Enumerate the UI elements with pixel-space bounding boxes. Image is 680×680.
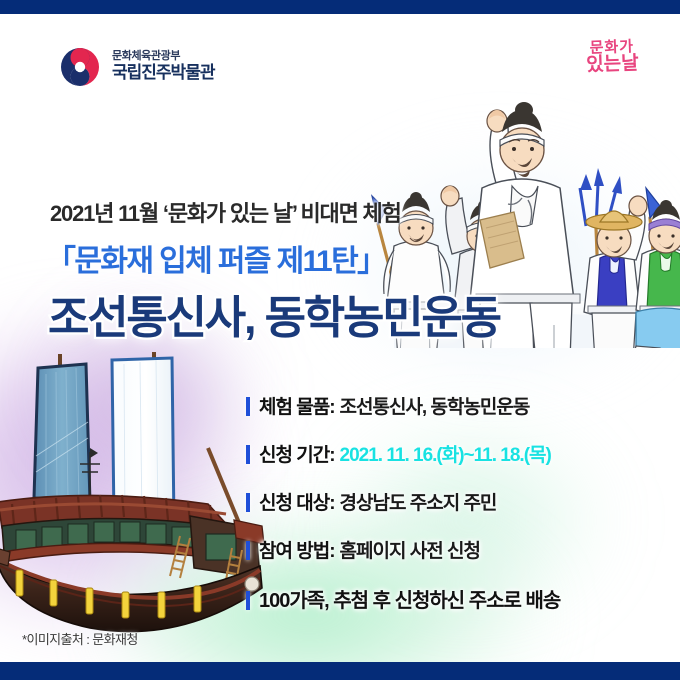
kicker-text: 2021년 11월 ‘문화가 있는 날’ 비대면 체험 [50, 196, 401, 228]
list-item: 체험 물품: 조선통신사, 동학농민운동 [246, 392, 666, 419]
detail-value: 홈페이지 사전 신청 [340, 536, 480, 563]
detail-label: 신청 대상: [259, 488, 335, 515]
government-logo: 문화체육관광부 국립진주박물관 [58, 45, 214, 89]
detail-value-highlighted: 2021. 11. 16.(화)~11. 18.(목) [340, 440, 551, 467]
bullet-marker-icon [246, 541, 250, 560]
taegeuk-emblem [58, 45, 102, 89]
museum-name: 국립진주박물관 [112, 63, 214, 83]
detail-value: 조선통신사, 동학농민운동 [340, 392, 530, 419]
ministry-name: 문화체육관광부 [112, 50, 214, 63]
bullet-marker-icon [246, 591, 250, 610]
poster: 문화체육관광부 국립진주박물관 문화가 있는날 2021년 11월 ‘문화가 있… [0, 0, 680, 680]
culture-day-logo-line2: 있는날 [585, 54, 638, 75]
culture-day-logo: 문화가 있는날 [585, 39, 639, 75]
list-item: 참여 방법: 홈페이지 사전 신청 [246, 536, 666, 563]
bullet-marker-icon [246, 445, 250, 464]
bullet-marker-icon [246, 493, 250, 512]
list-item: 신청 기간: 2021. 11. 16.(화)~11. 18.(목) [246, 440, 666, 467]
page-title: 조선통신사, 동학농민운동 [48, 281, 500, 346]
list-item: 100가족, 추첨 후 신청하신 주소로 배송 [246, 584, 666, 613]
detail-value: 경상남도 주소지 주민 [340, 488, 497, 515]
subtitle-text: 「문화재 입체 퍼즐 제11탄」 [46, 236, 386, 280]
detail-label: 신청 기간: [259, 440, 335, 467]
detail-label: 참여 방법: [259, 536, 335, 563]
bottom-border-bar [0, 662, 680, 680]
top-border-bar [0, 0, 680, 14]
government-logo-text: 문화체육관광부 국립진주박물관 [112, 50, 214, 83]
list-item: 신청 대상: 경상남도 주소지 주민 [246, 488, 666, 515]
detail-label: 체험 물품: [259, 392, 335, 419]
detail-list: 체험 물품: 조선통신사, 동학농민운동 신청 기간: 2021. 11. 16… [246, 392, 666, 634]
culture-day-logo-line2a: 있는 [585, 54, 621, 76]
culture-day-logo-line2b: 날 [620, 53, 638, 75]
bullet-marker-icon [246, 397, 250, 416]
detail-label: 100가족, 추첨 후 신청하신 주소로 배송 [259, 584, 560, 613]
image-credit: *이미지출처 : 문화재청 [22, 629, 138, 648]
